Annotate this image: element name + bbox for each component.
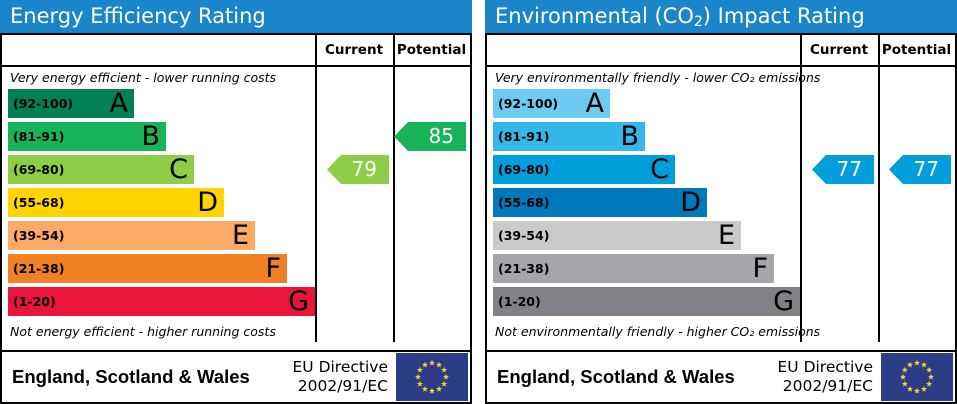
band-letter-c: C xyxy=(650,156,675,183)
band-range-b: (81-91) xyxy=(8,129,64,144)
column-separator-1 xyxy=(315,35,317,342)
band-bar-b: (81-91)B xyxy=(8,122,166,151)
band-bar-e: (39-54)E xyxy=(8,221,255,250)
band-range-c: (69-80) xyxy=(8,162,64,177)
footer-directive-line1: EU Directive xyxy=(778,358,874,377)
note-top: Very energy efficient - lower running co… xyxy=(10,70,276,85)
band-bar-b: (81-91)B xyxy=(493,122,645,151)
band-range-g: (1-20) xyxy=(493,294,541,309)
band-bars-area: Very energy efficient - lower running co… xyxy=(2,67,315,342)
band-bar-g: (1-20)G xyxy=(8,287,315,316)
band-letter-c: C xyxy=(169,156,194,183)
footer-region-label: England, Scotland & Wales xyxy=(487,366,778,388)
band-range-e: (39-54) xyxy=(493,228,549,243)
header-potential: Potential xyxy=(393,35,470,65)
eu-flag-graphic xyxy=(881,353,953,401)
epc-panel-co2-impact: Environmental (CO2) Impact RatingCurrent… xyxy=(485,0,957,404)
band-range-b: (81-91) xyxy=(493,129,549,144)
band-letter-f: F xyxy=(265,255,287,282)
footer-directive-line2: 2002/91/EC xyxy=(293,377,389,396)
rating-table: CurrentPotentialVery environmentally fri… xyxy=(485,33,957,404)
band-letter-g: G xyxy=(288,288,315,315)
note-bottom: Not energy efficient - higher running co… xyxy=(10,324,276,339)
band-bar-c: (69-80)C xyxy=(493,155,675,184)
footer-directive: EU Directive2002/91/EC xyxy=(778,358,882,396)
footer-region-label: England, Scotland & Wales xyxy=(2,366,293,388)
band-bar-a: (92-100)A xyxy=(8,89,134,118)
band-range-f: (21-38) xyxy=(493,261,549,276)
table-header-row: CurrentPotential xyxy=(2,35,470,67)
band-bar-g: (1-20)G xyxy=(493,287,800,316)
band-bar-d: (55-68)D xyxy=(8,188,224,217)
column-separator-2 xyxy=(393,35,395,342)
band-letter-a: A xyxy=(110,90,134,117)
column-separator-2 xyxy=(878,35,880,342)
eu-flag-graphic xyxy=(396,353,468,401)
footer-directive-line2: 2002/91/EC xyxy=(778,377,874,396)
header-current: Current xyxy=(800,35,878,65)
eu-flag-icon xyxy=(881,353,953,401)
band-range-f: (21-38) xyxy=(8,261,64,276)
panel-title-subscript: 2 xyxy=(694,14,703,30)
band-range-c: (69-80) xyxy=(493,162,549,177)
panel-title-prefix: Environmental (CO xyxy=(495,4,694,28)
table-header-row: CurrentPotential xyxy=(487,35,955,67)
band-letter-d: D xyxy=(197,189,224,216)
panel-footer: England, Scotland & WalesEU Directive200… xyxy=(2,350,470,402)
band-range-g: (1-20) xyxy=(8,294,56,309)
band-letter-e: E xyxy=(232,222,255,249)
epc-panel-energy-efficiency: Energy Efficiency RatingCurrentPotential… xyxy=(0,0,472,404)
potential-rating-arrow: 77 xyxy=(889,155,951,184)
band-letter-b: B xyxy=(620,123,645,150)
note-top: Very environmentally friendly - lower CO… xyxy=(495,70,820,85)
band-letter-a: A xyxy=(586,90,610,117)
band-range-d: (55-68) xyxy=(493,195,549,210)
band-range-a: (92-100) xyxy=(8,96,73,111)
current-rating-arrow: 79 xyxy=(327,155,389,184)
band-range-d: (55-68) xyxy=(8,195,64,210)
band-bar-d: (55-68)D xyxy=(493,188,707,217)
band-bar-c: (69-80)C xyxy=(8,155,194,184)
header-potential: Potential xyxy=(878,35,955,65)
band-bar-e: (39-54)E xyxy=(493,221,741,250)
band-bar-f: (21-38)F xyxy=(493,254,774,283)
note-bottom: Not environmentally friendly - higher CO… xyxy=(495,324,820,339)
rating-table: CurrentPotentialVery energy efficient - … xyxy=(0,33,472,404)
panel-title-suffix: ) Impact Rating xyxy=(703,4,865,28)
band-bar-a: (92-100)A xyxy=(493,89,610,118)
band-letter-d: D xyxy=(680,189,707,216)
potential-rating-arrow: 85 xyxy=(394,122,466,151)
current-rating-arrow: 77 xyxy=(812,155,874,184)
band-letter-e: E xyxy=(718,222,741,249)
band-letter-g: G xyxy=(773,288,800,315)
band-range-e: (39-54) xyxy=(8,228,64,243)
band-bars-area: Very environmentally friendly - lower CO… xyxy=(487,67,800,342)
footer-directive-line1: EU Directive xyxy=(293,358,389,377)
eu-flag-icon xyxy=(396,353,468,401)
band-letter-b: B xyxy=(141,123,166,150)
footer-directive: EU Directive2002/91/EC xyxy=(293,358,397,396)
band-range-a: (92-100) xyxy=(493,96,558,111)
panel-footer: England, Scotland & WalesEU Directive200… xyxy=(487,350,955,402)
band-bar-f: (21-38)F xyxy=(8,254,287,283)
panel-title: Environmental (CO2) Impact Rating xyxy=(485,0,957,33)
epc-charts-page: Energy Efficiency RatingCurrentPotential… xyxy=(0,0,957,404)
panel-title: Energy Efficiency Rating xyxy=(0,0,472,33)
header-current: Current xyxy=(315,35,393,65)
band-letter-f: F xyxy=(752,255,774,282)
